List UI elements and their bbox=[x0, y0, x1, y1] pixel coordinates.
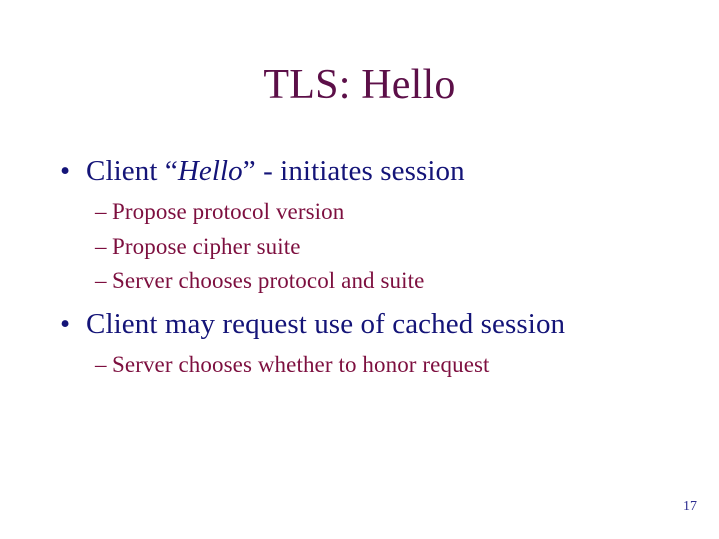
bullet-level2-propose-cipher-suite: – Propose cipher suite bbox=[55, 231, 675, 262]
bullet-text: Server chooses whether to honor request bbox=[112, 352, 490, 377]
bullet-level2-propose-protocol-version: – Propose protocol version bbox=[55, 196, 675, 227]
bullet-level1-client-hello: • Client “Hello” - initiates session bbox=[55, 152, 675, 190]
slide-body: • Client “Hello” - initiates session – P… bbox=[55, 152, 675, 384]
bullet-text: Client “Hello” - initiates session bbox=[86, 155, 465, 187]
bullet-dash-icon: – bbox=[95, 265, 107, 296]
slide-canvas: TLS: Hello • Client “Hello” - initiates … bbox=[0, 0, 719, 539]
bullet-dash-icon: – bbox=[95, 231, 107, 262]
bullet-text: Propose protocol version bbox=[112, 199, 344, 224]
bullet-level1-cached-session: • Client may request use of cached sessi… bbox=[55, 305, 675, 343]
bullet-text-suffix: ” - initiates session bbox=[243, 155, 465, 187]
bullet-text: Propose cipher suite bbox=[112, 234, 301, 259]
bullet-text-emphasis: Hello bbox=[178, 155, 243, 187]
bullet-text: Client may request use of cached session bbox=[86, 308, 565, 340]
bullet-text: Server chooses protocol and suite bbox=[112, 268, 424, 293]
bullet-text-prefix: Client “ bbox=[86, 155, 178, 187]
bullet-dash-icon: – bbox=[95, 349, 107, 380]
bullet-dot-icon: • bbox=[60, 305, 70, 343]
bullet-level2-server-chooses-protocol-and-suite: – Server chooses protocol and suite bbox=[55, 265, 675, 296]
bullet-dot-icon: • bbox=[60, 152, 70, 190]
page-number: 17 bbox=[683, 499, 697, 515]
bullet-dash-icon: – bbox=[95, 196, 107, 227]
page-title: TLS: Hello bbox=[0, 62, 719, 109]
bullet-level2-server-chooses-whether-to-honor-request: – Server chooses whether to honor reques… bbox=[55, 349, 675, 380]
